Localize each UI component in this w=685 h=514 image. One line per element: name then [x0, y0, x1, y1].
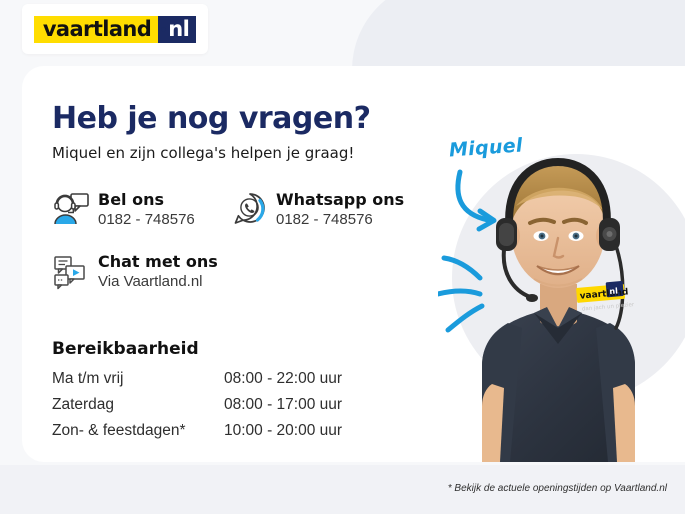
contact-chat-text: Chat met ons Via Vaartland.nl: [98, 252, 218, 293]
logo-wordmark-block: vaartland: [34, 16, 158, 43]
availability-time: 10:00 - 20:00 uur: [224, 420, 342, 446]
contact-call-number[interactable]: 0182 - 748576: [98, 209, 195, 231]
contact-call[interactable]: Bel ons 0182 - 748576: [52, 190, 195, 232]
logo-wordmark: vaartland: [43, 19, 151, 40]
svg-text:nl: nl: [609, 286, 618, 296]
availability-time: 08:00 - 17:00 uur: [224, 394, 342, 420]
svg-text:dan jach un plezier: dan jach un plezier: [582, 302, 635, 313]
logo-lockup: vaartland nl: [34, 16, 196, 43]
table-row: Ma t/m vrij 08:00 - 22:00 uur: [52, 368, 342, 394]
table-row: Zaterdag 08:00 - 17:00 uur: [52, 394, 342, 420]
chat-bubbles-icon: [52, 252, 92, 294]
contact-chat-link[interactable]: Via Vaartland.nl: [98, 271, 218, 293]
curved-arrow-icon: [442, 168, 552, 236]
whatsapp-icon: [230, 190, 270, 232]
availability-heading: Bereikbaarheid: [52, 339, 199, 359]
contact-chat-title: Chat met ons: [98, 253, 218, 271]
contact-call-title: Bel ons: [98, 191, 195, 209]
promo-banner: vaartland nl Heb je nog vragen? Miquel e…: [0, 0, 685, 514]
page-subtitle: Miquel en zijn collega's helpen je graag…: [52, 144, 354, 162]
contact-whatsapp-number[interactable]: 0182 - 748576: [276, 209, 404, 231]
contact-whatsapp[interactable]: Whatsapp ons 0182 - 748576: [230, 190, 404, 232]
availability-day: Zon- & feestdagen*: [52, 420, 224, 446]
logo-tld-block: nl: [158, 16, 196, 43]
brand-logo[interactable]: vaartland nl: [22, 4, 208, 54]
contact-whatsapp-text: Whatsapp ons 0182 - 748576: [276, 190, 404, 231]
table-row: Zon- & feestdagen* 10:00 - 20:00 uur: [52, 420, 342, 446]
contact-call-text: Bel ons 0182 - 748576: [98, 190, 195, 231]
contact-whatsapp-title: Whatsapp ons: [276, 191, 404, 209]
logo-dot-icon: [161, 27, 166, 32]
logo-tld: nl: [168, 19, 189, 40]
footnote: * Bekijk de actuele openingstijden op Va…: [448, 483, 667, 494]
availability-table: Ma t/m vrij 08:00 - 22:00 uur Zaterdag 0…: [52, 368, 342, 446]
headset-person-icon: [52, 190, 92, 232]
page-title: Heb je nog vragen?: [52, 101, 371, 136]
availability-day: Ma t/m vrij: [52, 368, 224, 394]
contact-chat[interactable]: Chat met ons Via Vaartland.nl: [52, 252, 218, 294]
background-blob-rounded: [352, 0, 685, 70]
motion-lines-icon: [438, 246, 533, 336]
availability-day: Zaterdag: [52, 394, 224, 420]
shirt-logo-badge: vaartland nl dan jach un plezier: [576, 281, 635, 313]
availability-time: 08:00 - 22:00 uur: [224, 368, 342, 394]
